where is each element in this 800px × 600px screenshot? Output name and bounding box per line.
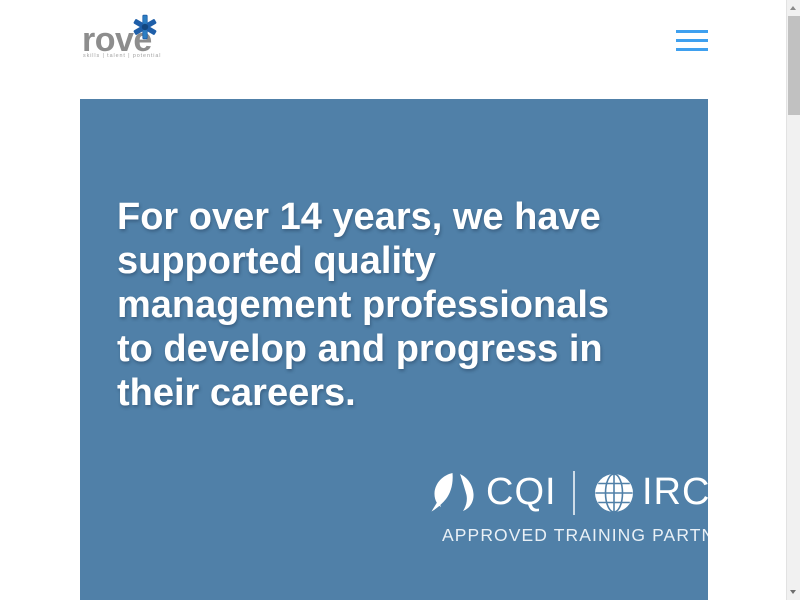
hamburger-bar-3 [676,48,708,51]
chevron-down-glyph [790,590,796,594]
hero-banner: For over 14 years, we have supported qua… [80,99,708,600]
vertical-scrollbar[interactable] [786,0,800,600]
hamburger-bar-2 [676,39,708,42]
badge-divider [573,471,575,515]
chevron-up-glyph [790,6,796,10]
chevron-up-icon[interactable] [787,0,800,15]
irca-wordmark: IRCA [642,467,708,517]
chevron-down-icon[interactable] [787,585,800,600]
hamburger-menu-icon[interactable] [675,26,709,52]
globe-icon [593,472,635,514]
browser-page: rove skills | talent | po [0,0,800,600]
cqi-leaf-mark-icon [430,470,482,514]
cqi-wordmark: CQI [486,467,557,517]
accreditation-badge: CQI [345,467,655,557]
badge-marks-row: CQI [345,467,655,523]
site-header: rove skills | talent | po [0,0,786,99]
brand-logo[interactable]: rove skills | talent | po [82,14,202,70]
page-viewport: rove skills | talent | po [0,0,786,600]
scrollbar-thumb[interactable] [788,16,800,115]
hero-headline: For over 14 years, we have supported qua… [117,195,647,415]
asterisk-icon [132,14,158,40]
logo-tagline: skills | talent | potential [83,54,161,59]
hamburger-bar-1 [676,30,708,33]
badge-subtitle: APPROVED TRAINING PARTNER [442,525,708,546]
